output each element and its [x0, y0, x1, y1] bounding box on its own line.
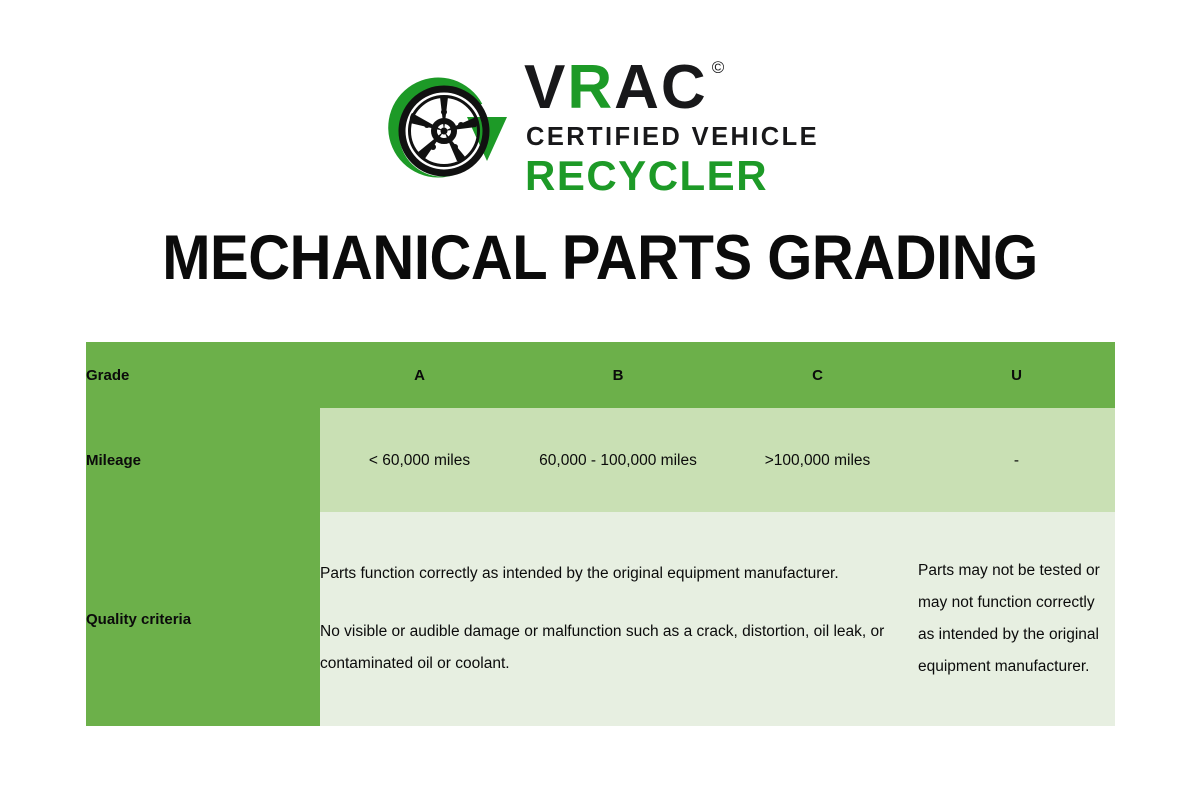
- vrac-recycling-wheel-icon: [381, 61, 516, 193]
- logo-letters-ac: AC: [614, 57, 708, 119]
- quality-criteria-u: Parts may not be tested or may not funct…: [918, 512, 1115, 726]
- table-row-mileage: Mileage < 60,000 miles 60,000 - 100,000 …: [86, 408, 1115, 512]
- quality-criteria-abc-paragraph-2: No visible or audible damage or malfunct…: [320, 616, 918, 680]
- logo-letter-r: R: [567, 57, 614, 119]
- row-label-quality-criteria: Quality criteria: [86, 512, 320, 726]
- table-header-grade: Grade: [86, 342, 320, 408]
- mileage-grade-c: >100,000 miles: [717, 408, 918, 512]
- table-header-grade-c: C: [717, 342, 918, 408]
- logo-vrac-line: VRAC©: [524, 57, 726, 119]
- logo-inner: VRAC© CERTIFIED VEHICLE RECYCLER: [381, 57, 819, 197]
- mileage-grade-b: 60,000 - 100,000 miles: [519, 408, 717, 512]
- copyright-icon: ©: [712, 59, 727, 76]
- table-header-grade-a: A: [320, 342, 519, 408]
- logo-letter-v: V: [524, 57, 567, 119]
- mechanical-parts-grading-table: Grade A B C U Mileage < 60,000 miles 60,…: [86, 342, 1115, 726]
- table-row-quality-criteria: Quality criteria Parts function correctl…: [86, 512, 1115, 726]
- mileage-grade-a: < 60,000 miles: [320, 408, 519, 512]
- quality-criteria-abc-paragraph-1: Parts function correctly as intended by …: [320, 558, 918, 590]
- row-label-mileage: Mileage: [86, 408, 320, 512]
- table-header-grade-u: U: [918, 342, 1115, 408]
- mileage-grade-u: -: [918, 408, 1115, 512]
- brand-logo-block: VRAC© CERTIFIED VEHICLE RECYCLER: [0, 52, 1200, 202]
- table-header-grade-b: B: [519, 342, 717, 408]
- page-title: MECHANICAL PARTS GRADING: [48, 222, 1152, 294]
- logo-wordmark: VRAC© CERTIFIED VEHICLE RECYCLER: [524, 57, 819, 197]
- logo-tagline: CERTIFIED VEHICLE: [526, 125, 819, 151]
- logo-recycler-line: RECYCLER: [525, 155, 768, 197]
- table-header-row: Grade A B C U: [86, 342, 1115, 408]
- quality-criteria-abc: Parts function correctly as intended by …: [320, 512, 918, 726]
